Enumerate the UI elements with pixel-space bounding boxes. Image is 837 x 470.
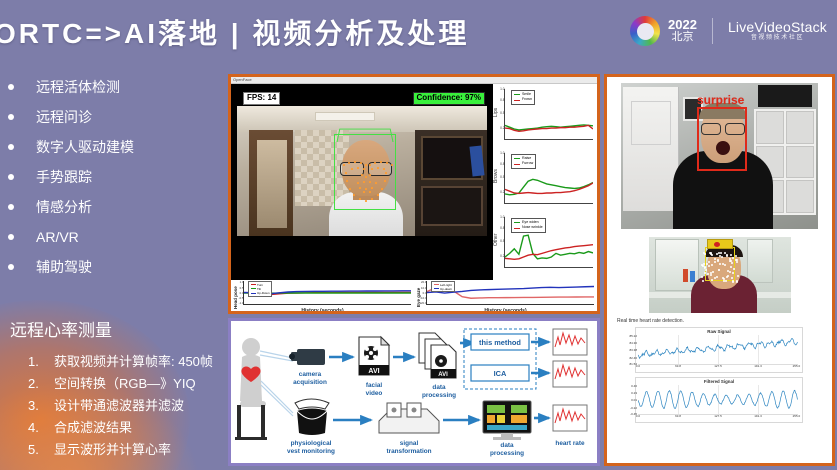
legend-entry: Furrow [514,161,533,166]
y-tick: 1.0 [500,151,504,155]
ring-logo-center [637,23,654,40]
y-tick: 1.0 [500,215,504,219]
chart-y-ticks: 85.22 84.30 83.38 82.46 81.54 [618,335,638,364]
list-item: 手势跟踪 [8,162,228,192]
chart-title: Raw Signal [636,328,802,334]
list-item: 远程活体检测 [8,72,228,102]
chart-legend: Smile Frown [511,90,535,105]
data-processing-monitor-icon [483,401,531,440]
slide-header: ORTC=>AI落地 | 视频分析及处理 2022 北京 LiveVideoSt… [0,0,837,62]
filtered-signal-chart: Filtered Signal 0.46 0.23 0.01 -0.22 -0.… [635,377,803,423]
flow-label-dataproc2-2: processing [490,450,524,457]
camera-icon [289,349,325,365]
flow-label-camera-2: acquisition [293,379,327,386]
left-content-column: 远程活体检测 远程问诊 数字人驱动建模 手势跟踪 情感分析 AR/VR [0,72,228,464]
flow-label-heart-rate: heart rate [555,440,585,447]
chart-y-ticks: 1.0 0.8 0.5 0.2 [496,153,505,203]
app-title-bar: OpenFace [231,77,597,84]
y-tick: 83.38 [629,348,637,352]
chart-plot-area: 1.0 0.5 0.0 -0.5 -1.0 Turn Tilt Up-Down [243,281,411,305]
bullet-label: 情感分析 [36,197,92,217]
rainbow-ring-icon [630,16,660,46]
y-tick: 20.0 [421,280,426,284]
flow-label-vest-1: physiological [291,440,332,447]
list-item: 4. 合成滤波结果 [28,417,228,439]
raw-signal-line [638,335,798,364]
y-tick: 10.0 [421,286,426,290]
section-heading: 远程心率测量 [10,316,228,341]
x-tick: 63.8 [675,364,681,368]
heart-rate-detection-screenshot: Real time heart rate detection. Raw Sign… [607,237,832,423]
room-door [623,87,679,211]
waveform-thumb-1 [553,329,587,355]
step-label: 获取视频并计算帧率: 450帧 [54,351,213,370]
chart-x-ticks: 0.0 63.8 127.5 191.3 255.0 [638,414,798,421]
fps-badge: FPS: 14 [243,92,280,105]
room-door [249,130,293,236]
brand-name: LiveVideoStack [728,20,827,35]
bullet-label: AR/VR [36,229,79,245]
windowsill-bottle [683,269,688,282]
step-label: 合成滤波结果 [54,417,132,436]
event-year: 2022 [668,18,697,32]
y-tick: 0.5 [500,175,504,179]
action-unit-charts-column: Lips 1.0 0.8 0.5 0.2 Smile Frown [493,84,597,280]
y-tick: -1.0 [239,301,244,305]
chart-plot-area: 1.0 0.8 0.5 0.2 Smile Frown [504,89,593,140]
tracking-marker-band [707,239,733,249]
list-item: AR/VR [8,222,228,252]
room-shelf [415,130,487,236]
eye-gaze-chart: Eye gaze 20.0 10.0 0.0 -10.0 -20.0 Left-… [414,280,597,314]
au-chart-lips: Lips 1.0 0.8 0.5 0.2 Smile Frown [493,86,597,148]
bullet-label: 手势跟踪 [36,167,92,187]
y-tick: 84.30 [629,341,637,345]
page-title: ORTC=>AI落地 | 视频分析及处理 [0,12,469,52]
y-tick: 0.23 [631,391,637,395]
chart-y-ticks: 1.0 0.5 0.0 -0.5 -1.0 [236,281,244,304]
flow-label-vest-2: vest monitoring [287,448,335,455]
y-tick: 0.5 [240,286,244,290]
bullet-label: 远程问诊 [36,107,92,127]
chart-x-label: History (seconds) [231,308,414,314]
legend-entry: Frown [514,97,532,102]
flow-label-dataproc1-2: processing [422,392,456,399]
y-tick: 0.5 [500,239,504,243]
bullet-dot-icon [8,204,14,210]
bullet-dot-icon [8,84,14,90]
brand-tagline: 音视频技术社区 [728,35,827,42]
flow-label-signal-2: transformation [386,448,431,455]
y-tick: 0.2 [500,190,504,194]
x-tick: 191.3 [754,364,762,368]
y-tick: 0.8 [500,98,504,102]
emotion-and-heartrate-panel: surprise Real time heart rate detectio [604,74,835,466]
x-tick: 127.5 [714,414,722,418]
x-tick: 0.0 [636,364,640,368]
y-tick: 0.2 [500,254,504,258]
face-video-preview: FPS: 14 Confidence: 97% [231,84,493,280]
waveform-thumb-3 [553,405,587,431]
chart-legend: Turn Tilt Up-Down [248,281,272,297]
event-city: 北京 [668,32,697,44]
flow-label-this-method: this method [479,338,521,347]
signal-transform-device-icon [379,403,439,433]
y-tick: -20.0 [420,301,426,305]
flow-label-ica: ICA [494,369,507,378]
shelf-book [469,145,484,176]
list-item: 数字人驱动建模 [8,132,228,162]
waveform-thumb-2 [553,361,587,387]
flow-label-camera-1: camera [299,371,322,378]
x-tick: 127.5 [714,364,722,368]
list-item: 情感分析 [8,192,228,222]
x-tick: 63.8 [675,414,681,418]
step-label: 设计带通滤波器并滤波 [54,395,184,414]
legend-label: Up-down [440,287,452,291]
y-tick: 0.8 [500,162,504,166]
chart-x-ticks: 0.0 63.8 127.5 191.3 255.0 [638,364,798,371]
step-number: 5. [28,442,54,457]
flow-label-dataproc2-1: data [500,442,514,449]
bullet-label: 远程活体检测 [36,77,120,97]
y-tick: -0.22 [630,406,637,410]
y-tick: 1.0 [240,280,244,284]
flow-label-signal-1: signal [400,440,419,447]
tracking-feature-points [701,251,739,283]
bullet-dot-icon [8,144,14,150]
y-tick: 82.46 [629,356,637,360]
bullet-dot-icon [8,264,14,270]
legend-label: Furrow [522,161,533,166]
y-tick: -0.5 [239,296,244,300]
emotion-detection-screenshot: surprise [618,81,821,231]
flow-label-facial-2: video [366,390,383,397]
pipeline-diagram: camera acquisition AVI facial video [231,321,597,463]
y-tick: 0.8 [500,226,504,230]
webcam-frame [237,106,487,236]
heart-rate-video-frame [649,237,791,313]
x-tick: 255.0 [793,364,801,368]
filtered-signal-line [638,385,798,414]
brand-bar: 2022 北京 LiveVideoStack 音视频技术社区 [630,16,827,46]
physiological-vest-icon [295,399,329,435]
chart-legend: Eye widen Nose wrinkle [511,218,546,233]
list-item: 1. 获取视频并计算帧率: 450帧 [28,351,228,373]
face-bounding-box [697,107,747,171]
step-number: 1. [28,354,54,369]
video-letterbox-bottom [237,236,487,280]
emotion-label: surprise [697,93,744,107]
step-label: 空间转换（RGB—》YIQ [54,373,196,392]
legend-entry: Nose wrinkle [514,225,543,230]
chart-legend: Left-right Up-down [431,281,455,292]
step-number: 2. [28,376,54,391]
data-processing-files-icon: AVI [419,333,456,378]
chart-title: Filtered Signal [636,378,802,384]
chart-x-label: History (seconds) [414,308,597,314]
y-tick: 1.0 [500,87,504,91]
flow-label-dataproc1-1: data [432,384,446,391]
event-year-city: 2022 北京 [668,18,697,43]
legend-entry: Up-Down [251,291,270,295]
use-case-bullet-list: 远程活体检测 远程问诊 数字人驱动建模 手势跟踪 情感分析 AR/VR [0,72,228,282]
svg-text:AVI: AVI [438,372,448,378]
chart-plot-area: 1.0 0.8 0.5 0.2 Eye widen Nose wrinkle [504,217,593,268]
chart-y-ticks: 1.0 0.8 0.5 0.2 [496,217,505,267]
emotion-video-frame: surprise [621,83,818,229]
legend-label: Up-Down [257,291,270,295]
ceiling-light [315,112,375,121]
list-item: 5. 显示波形并计算心率 [28,439,228,461]
list-item: 远程问诊 [8,102,228,132]
y-tick: 0.46 [631,384,637,388]
head-pose-chart: Head pose 1.0 0.5 0.0 -0.5 -1.0 Turn Til… [231,280,414,314]
y-tick: 0.2 [500,126,504,130]
bullet-dot-icon [8,234,14,240]
flow-label-avi: AVI [368,368,379,375]
step-number: 3. [28,398,54,413]
confidence-badge: Confidence: 97% [413,92,485,105]
list-item: 3. 设计带通滤波器并滤波 [28,395,228,417]
raw-signal-chart: Raw Signal 85.22 84.30 83.38 82.46 81.54… [635,327,803,373]
x-tick: 0.0 [636,414,640,418]
bullet-label: 辅助驾驶 [36,257,92,277]
seated-person-icon [235,338,267,440]
livevideostack-logo: LiveVideoStack 音视频技术社区 [728,20,827,42]
pose-gaze-charts-row: Head pose 1.0 0.5 0.0 -0.5 -1.0 Turn Til… [231,280,597,314]
heart-rate-steps-list: 1. 获取视频并计算帧率: 450帧 2. 空间转换（RGB—》YIQ 3. 设… [10,351,228,461]
y-tick: 0.0 [240,291,244,295]
heart-rate-section: 远程心率测量 1. 获取视频并计算帧率: 450帧 2. 空间转换（RGB—》Y… [0,316,228,461]
x-tick: 255.0 [793,414,801,418]
heart-rate-caption: Real time heart rate detection. [617,318,826,324]
chart-plot-area: 20.0 10.0 0.0 -10.0 -20.0 Left-right Up-… [426,281,594,305]
legend-label: Nose wrinkle [522,225,543,230]
chart-y-ticks: 0.46 0.23 0.01 -0.22 -0.45 [618,385,638,414]
y-tick: 0.5 [500,111,504,115]
brand-divider [712,18,713,44]
legend-entry: Up-down [434,287,453,291]
chart-y-ticks: 1.0 0.8 0.5 0.2 [496,89,505,139]
y-tick: 0.0 [423,291,427,295]
face-tracking-screenshot-panel: OpenFace [228,74,600,314]
chart-y-ticks: 20.0 10.0 0.0 -10.0 -20.0 [419,281,427,304]
x-tick: 191.3 [754,414,762,418]
au-chart-other: Other 1.0 0.8 0.5 0.2 Eye widen Nose wri… [493,214,597,276]
list-item: 2. 空间转换（RGB—》YIQ [28,373,228,395]
chart-plot-area: 1.0 0.8 0.5 0.2 Raise Furrow [504,153,593,204]
y-tick: 0.01 [631,398,637,402]
chart-plot-area: 0.46 0.23 0.01 -0.22 -0.45 0.0 63.8 127.… [638,385,798,415]
chart-legend: Raise Furrow [511,154,536,169]
bullet-label: 数字人驱动建模 [36,137,134,157]
flow-label-facial-1: facial [366,382,383,389]
bullet-dot-icon [8,114,14,120]
heart-rate-pipeline-diagram-panel: camera acquisition AVI facial video [228,318,600,466]
bullet-dot-icon [8,174,14,180]
avi-file-icon: AVI [359,337,389,375]
slide-root: ORTC=>AI落地 | 视频分析及处理 2022 北京 LiveVideoSt… [0,0,837,470]
y-tick: -10.0 [420,296,426,300]
y-tick: 85.22 [629,334,637,338]
legend-label: Frown [522,97,532,102]
chart-plot-area: 85.22 84.30 83.38 82.46 81.54 0.0 63.8 1… [638,335,798,365]
step-number: 4. [28,420,54,435]
facial-landmark-points [337,156,393,206]
au-chart-brows: Brows 1.0 0.8 0.5 0.2 Raise Furrow [493,150,597,212]
step-label: 显示波形并计算心率 [54,439,171,458]
list-item: 辅助驾驶 [8,252,228,282]
